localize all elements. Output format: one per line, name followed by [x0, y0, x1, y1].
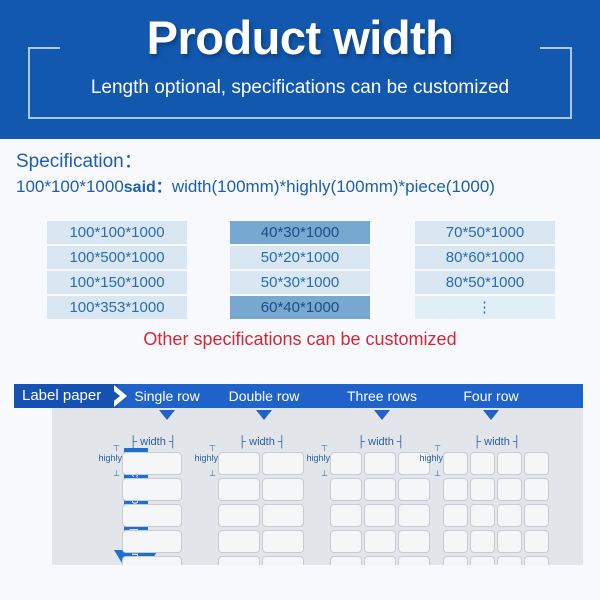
spec-cell: 50*30*1000	[230, 271, 370, 294]
label-box	[398, 504, 430, 527]
label-box	[524, 452, 549, 475]
customization-note: Other specifications can be customized	[0, 327, 600, 351]
label-grid-3: ├ width ┤highly⊤⊥	[330, 452, 432, 582]
width-text: width	[249, 436, 275, 448]
label-box	[524, 504, 549, 527]
label-box	[218, 504, 260, 527]
specification-label: Specification：	[16, 150, 143, 174]
example-said: said：	[124, 179, 172, 196]
spec-cell: ⋮	[415, 296, 555, 319]
specification-table: 100*100*1000100*500*1000100*150*1000100*…	[0, 221, 600, 324]
label-box	[122, 504, 182, 527]
label-paper-column-header: Double row	[204, 384, 324, 408]
label-box	[470, 504, 495, 527]
label-grid-row	[330, 530, 432, 556]
label-box	[497, 530, 522, 553]
section-footer-spacer	[0, 565, 600, 590]
label-paper-title: Label paper	[22, 384, 101, 408]
spec-cell: 40*30*1000	[230, 221, 370, 244]
label-box	[364, 452, 396, 475]
page-subtitle: Length optional, specifications can be c…	[0, 76, 600, 100]
spec-cell: 80*60*1000	[415, 246, 555, 269]
label-box	[262, 478, 304, 501]
highly-dimension-label: highly	[92, 454, 122, 463]
highly-dimension-label: highly	[413, 454, 443, 463]
width-dimension-label: ├ width ┤	[330, 436, 432, 448]
label-paper-column-header: Four row	[431, 384, 551, 408]
label-grid-row	[122, 478, 184, 504]
triangle-down-icon	[159, 410, 175, 420]
label-box	[364, 530, 396, 553]
spec-cell: 60*40*1000	[230, 296, 370, 319]
label-box	[524, 530, 549, 553]
spec-cell: 70*50*1000	[415, 221, 555, 244]
spec-cell: 50*20*1000	[230, 246, 370, 269]
triangle-down-icon	[374, 410, 390, 420]
specification-section: Specification： 100*100*1000said：width(10…	[0, 143, 600, 375]
highly-tick-bottom-icon: ⊥	[209, 471, 216, 477]
product-width-infographic: Product width Length optional, specifica…	[0, 0, 600, 600]
specification-example: 100*100*1000said：width(100mm)*highly(100…	[16, 176, 495, 199]
highly-tick-top-icon: ⊤	[434, 446, 441, 452]
label-grid-row	[443, 478, 551, 504]
label-box	[218, 530, 260, 553]
label-grid-2: ├ width ┤highly⊤⊥	[218, 452, 306, 582]
label-grid-row	[122, 504, 184, 530]
label-box	[443, 504, 468, 527]
label-box	[218, 452, 260, 475]
label-box	[262, 504, 304, 527]
label-grid-row	[122, 530, 184, 556]
label-box	[524, 478, 549, 501]
label-box	[398, 530, 430, 553]
label-box	[364, 478, 396, 501]
label-box	[443, 452, 468, 475]
label-box	[470, 530, 495, 553]
triangle-down-icon	[483, 410, 499, 420]
highly-tick-bottom-icon: ⊥	[321, 471, 328, 477]
label-grid-row	[122, 452, 184, 478]
label-box	[330, 452, 362, 475]
label-box	[497, 452, 522, 475]
label-box	[122, 478, 182, 501]
label-box	[470, 452, 495, 475]
header-banner: Product width Length optional, specifica…	[0, 0, 600, 139]
label-box	[497, 478, 522, 501]
label-paper-diagram-panel: direction of the paper ├ width ┤highly⊤⊥…	[52, 408, 583, 565]
label-grid-row	[218, 478, 306, 504]
highly-tick-bottom-icon: ⊥	[113, 471, 120, 477]
width-dimension-label: ├ width ┤	[443, 436, 551, 448]
example-code: 100*100*1000	[16, 177, 124, 196]
label-box	[262, 452, 304, 475]
label-box	[443, 530, 468, 553]
label-box	[364, 504, 396, 527]
spec-column-3: 70*50*100080*60*100080*50*1000⋮	[415, 221, 555, 321]
label-grid-4: ├ width ┤highly⊤⊥	[443, 452, 551, 582]
label-paper-column-header: Three rows	[322, 384, 442, 408]
label-box	[398, 478, 430, 501]
label-grid-row	[443, 530, 551, 556]
label-grid-row	[443, 452, 551, 478]
width-dimension-label: ├ width ┤	[122, 436, 184, 448]
spec-column-1: 100*100*1000100*500*1000100*150*1000100*…	[47, 221, 187, 321]
label-paper-bar: Label paper Single rowDouble rowThree ro…	[14, 384, 583, 408]
highly-tick-top-icon: ⊤	[113, 446, 120, 452]
triangle-down-icon	[256, 410, 272, 420]
label-paper-section: Label paper Single rowDouble rowThree ro…	[0, 380, 600, 590]
spec-column-2: 40*30*100050*20*100050*30*100060*40*1000	[230, 221, 370, 321]
label-grid-row	[330, 478, 432, 504]
page-title: Product width	[0, 10, 600, 66]
label-box	[330, 504, 362, 527]
label-box	[443, 478, 468, 501]
label-box	[330, 478, 362, 501]
label-box	[262, 530, 304, 553]
label-grid-row	[330, 504, 432, 530]
width-text: width	[484, 436, 510, 448]
highly-tick-bottom-icon: ⊥	[434, 471, 441, 477]
label-box	[497, 504, 522, 527]
label-box	[218, 478, 260, 501]
label-box	[122, 530, 182, 553]
width-dimension-label: ├ width ┤	[218, 436, 306, 448]
spec-cell: 100*353*1000	[47, 296, 187, 319]
highly-dimension-label: highly	[300, 454, 330, 463]
label-grid-row	[218, 452, 306, 478]
highly-tick-top-icon: ⊤	[321, 446, 328, 452]
label-grid-1: ├ width ┤highly⊤⊥	[122, 452, 184, 582]
label-box	[470, 478, 495, 501]
width-text: width	[140, 436, 166, 448]
highly-tick-top-icon: ⊤	[209, 446, 216, 452]
label-grid-row	[218, 530, 306, 556]
label-grid-row	[443, 504, 551, 530]
label-box	[122, 452, 182, 475]
spec-cell: 100*150*1000	[47, 271, 187, 294]
spec-cell: 100*100*1000	[47, 221, 187, 244]
spec-cell: 100*500*1000	[47, 246, 187, 269]
highly-dimension-label: highly	[188, 454, 218, 463]
width-text: width	[368, 436, 394, 448]
example-meaning: width(100mm)*highly(100mm)*piece(1000)	[172, 177, 495, 196]
spec-cell: 80*50*1000	[415, 271, 555, 294]
label-grid-row	[218, 504, 306, 530]
label-box	[330, 530, 362, 553]
